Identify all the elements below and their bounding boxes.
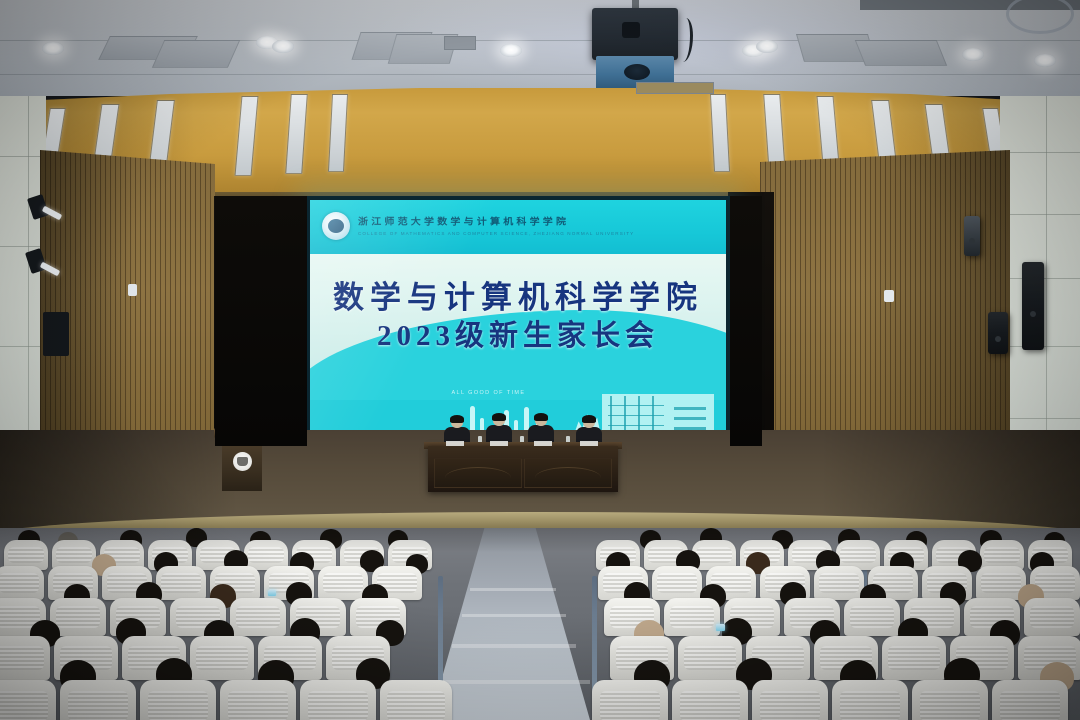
panelist <box>486 414 512 444</box>
slide-title-line-1: 数学与计算机科学学院 <box>310 272 726 317</box>
tile-grout-line <box>1000 214 1080 215</box>
audience-seat[interactable] <box>380 680 452 720</box>
building-grid-line <box>608 415 664 417</box>
slide-header-band: 浙江师范大学数学与计算机科学学院 COLLEGE OF MATHEMATICS … <box>310 200 726 254</box>
ceiling-downlight <box>962 48 984 61</box>
audience-seat[interactable] <box>60 680 136 720</box>
aisle-step <box>462 614 566 617</box>
tile-grout-line <box>0 246 46 247</box>
audience-seat[interactable] <box>230 598 286 636</box>
name-card <box>446 441 464 446</box>
name-card <box>580 441 598 446</box>
panelist-hair <box>450 415 464 423</box>
building-grid-line <box>674 417 706 420</box>
audience-seat[interactable] <box>832 680 908 720</box>
audience-depth-shading <box>0 528 1080 552</box>
audience-seat[interactable] <box>672 680 748 720</box>
audience-seat[interactable] <box>318 566 368 600</box>
slide-institution-name-cn: 浙江师范大学数学与计算机科学学院 <box>358 214 569 228</box>
right-wall-light-fixture <box>964 216 980 256</box>
slide-skyline-right <box>602 386 720 432</box>
tile-grout-line <box>1000 152 1080 153</box>
audience-seat[interactable] <box>300 680 376 720</box>
panelist <box>528 414 554 444</box>
aisle-step <box>452 644 576 648</box>
panelist-hair <box>492 413 506 421</box>
panelist-hair <box>534 413 548 421</box>
center-aisle <box>430 528 590 720</box>
aisle-step <box>440 680 590 684</box>
slide-subtitle-en: ALL GOOD OF TIME <box>451 390 525 396</box>
audience-seat[interactable] <box>1024 598 1080 636</box>
audience-seat[interactable] <box>0 636 50 680</box>
audience-seat[interactable] <box>844 598 900 636</box>
ceiling-panel <box>152 40 240 68</box>
head-table-panel <box>524 458 612 488</box>
audience-seat[interactable] <box>678 636 742 680</box>
right-wall-sensor <box>884 290 894 302</box>
phone-screen <box>268 590 276 596</box>
right-wall-speaker-lower <box>988 312 1008 354</box>
slide-institution-name-en: COLLEGE OF MATHEMATICS AND COMPUTER SCIE… <box>358 231 634 236</box>
slide-title-line-2: 2023级新生家长会 <box>310 312 726 354</box>
ceiling-panel <box>855 40 948 66</box>
name-card <box>490 441 508 446</box>
phone-screen <box>716 624 725 631</box>
audience-seat[interactable] <box>652 566 702 600</box>
audience-seat[interactable] <box>140 680 216 720</box>
podium-crest-icon <box>233 452 252 471</box>
ceiling-downlight <box>1034 54 1056 67</box>
aisle-step <box>470 588 556 591</box>
audience-seating <box>0 528 1080 720</box>
ceiling-downlight <box>500 44 522 57</box>
projector-lens <box>624 64 650 80</box>
university-emblem-icon <box>322 212 350 240</box>
audience-seat[interactable] <box>190 636 254 680</box>
building-grid-line <box>608 405 664 407</box>
ceiling-downlight <box>42 42 64 55</box>
tile-grout-line <box>0 346 46 347</box>
audience-seat[interactable] <box>882 636 946 680</box>
audience-seat[interactable] <box>814 566 864 600</box>
audience-seat[interactable] <box>156 566 206 600</box>
screen-surface: 浙江师范大学数学与计算机科学学院 COLLEGE OF MATHEMATICS … <box>310 200 726 432</box>
name-card <box>534 441 552 446</box>
ceiling-seam <box>0 74 1080 75</box>
tile-grout-line <box>0 156 46 157</box>
tile-grout-line <box>1000 418 1080 419</box>
projector-icon <box>592 8 678 60</box>
right-wall-speaker-upper <box>1022 262 1044 350</box>
audience-seat[interactable] <box>912 680 988 720</box>
left-wall-speaker <box>43 312 69 356</box>
led-screen[interactable]: 浙江师范大学数学与计算机科学学院 COLLEGE OF MATHEMATICS … <box>306 196 730 436</box>
building-grid-line <box>608 425 664 427</box>
audience-seat[interactable] <box>0 566 44 600</box>
stage-wing-left <box>215 196 307 446</box>
panelist-hair <box>582 415 596 423</box>
audience-seat[interactable] <box>752 680 828 720</box>
ceiling-vent <box>444 36 476 50</box>
ceiling-downlight <box>272 40 294 53</box>
audience-seat[interactable] <box>664 598 720 636</box>
upper-wall-vent <box>636 82 714 94</box>
stage-wing-right <box>730 196 762 446</box>
ceiling-downlight <box>756 40 778 53</box>
audience-seat[interactable] <box>0 680 56 720</box>
head-table-panel <box>434 458 522 488</box>
skyline-tower <box>470 406 475 432</box>
audience-seat[interactable] <box>592 680 668 720</box>
auditorium-photo: 浙江师范大学数学与计算机科学学院 COLLEGE OF MATHEMATICS … <box>0 0 1080 720</box>
audience-seat[interactable] <box>992 680 1068 720</box>
left-wall-sensor <box>128 284 137 296</box>
building-grid-line <box>674 407 706 410</box>
audience-seat[interactable] <box>220 680 296 720</box>
